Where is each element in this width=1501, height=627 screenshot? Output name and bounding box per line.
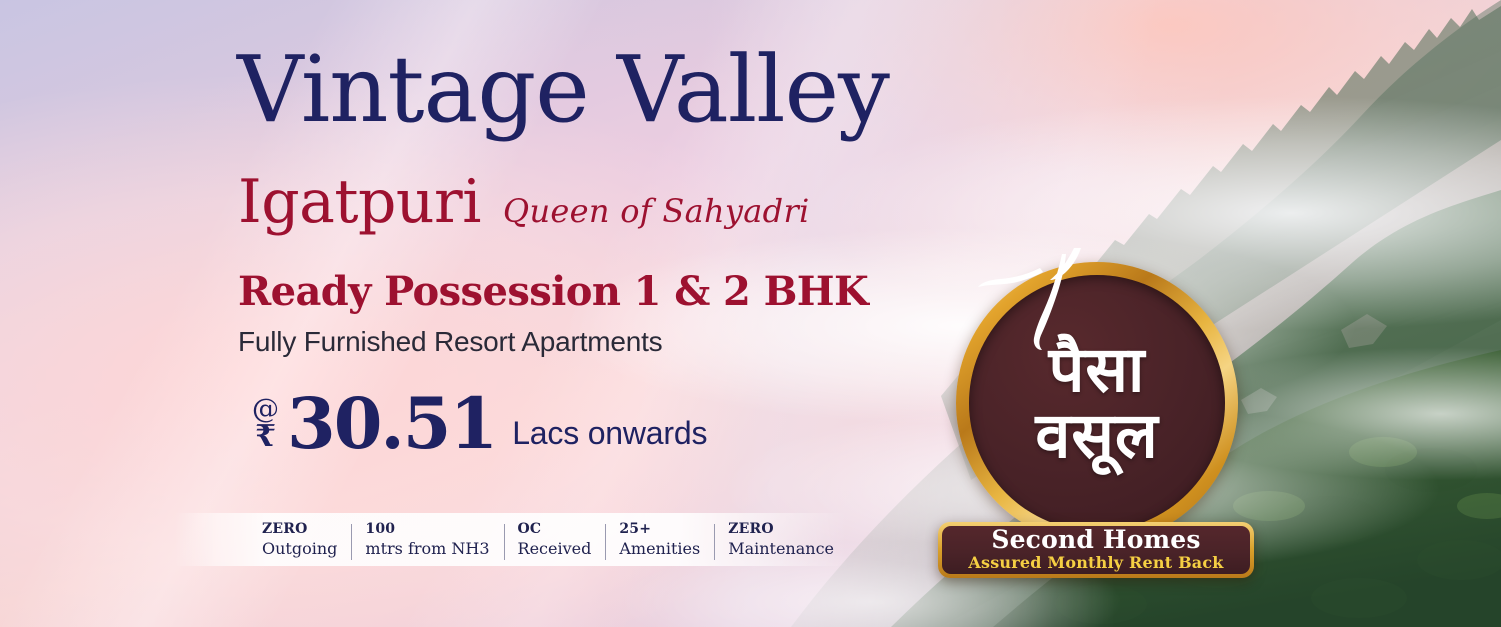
usp-headline: ZERO xyxy=(262,520,337,539)
price-block: @ ₹ 30.51 Lacs onwards xyxy=(252,392,707,456)
property-description: Fully Furnished Resort Apartments xyxy=(238,327,662,358)
usp-item: 25+ Amenities xyxy=(605,520,714,559)
promo-banner: Vintage Valley Igatpuri Queen of Sahyadr… xyxy=(0,0,1501,627)
city-name: Igatpuri xyxy=(238,172,481,232)
usp-subtext: Received xyxy=(518,539,592,559)
badge-plate-title: Second Homes xyxy=(991,527,1200,553)
location-tagline: Queen of Sahyadri xyxy=(503,195,810,227)
price-amount: 30.51 xyxy=(287,392,496,456)
usp-item: ZERO Maintenance xyxy=(714,520,848,559)
badge-plate-inner: Second Homes Assured Monthly Rent Back xyxy=(942,526,1250,574)
badge-plate: Second Homes Assured Monthly Rent Back xyxy=(938,522,1254,578)
page-title: Vintage Valley xyxy=(237,44,889,136)
usp-strip: ZERO Outgoing 100 mtrs from NH3 OC Recei… xyxy=(175,513,875,566)
usp-item: 100 mtrs from NH3 xyxy=(351,520,503,559)
usp-item: ZERO Outgoing xyxy=(248,520,351,559)
possession-headline: Ready Possession 1 & 2 BHK xyxy=(238,270,868,314)
usp-item: OC Received xyxy=(504,520,606,559)
location-line: Igatpuri Queen of Sahyadri xyxy=(238,172,810,232)
badge-plate-subtitle: Assured Monthly Rent Back xyxy=(968,554,1223,572)
badge-hindi-line-2: वसूल xyxy=(1035,404,1158,468)
price-unit: Lacs onwards xyxy=(512,417,707,456)
usp-subtext: Maintenance xyxy=(728,539,834,559)
usp-headline: OC xyxy=(518,520,592,539)
devanagari-flourish-icon xyxy=(966,246,1116,366)
usp-headline: 25+ xyxy=(619,520,700,539)
usp-subtext: Amenities xyxy=(619,539,700,559)
usp-headline: ZERO xyxy=(728,520,834,539)
paisa-vasool-badge: पैसा वसूल Second Homes Assured Monthly R… xyxy=(938,262,1256,582)
usp-subtext: Outgoing xyxy=(262,539,337,559)
rupee-symbol-icon: ₹ xyxy=(255,423,276,451)
usp-headline: 100 xyxy=(365,520,489,539)
usp-subtext: mtrs from NH3 xyxy=(365,539,489,559)
currency-stack: @ ₹ xyxy=(252,398,279,456)
